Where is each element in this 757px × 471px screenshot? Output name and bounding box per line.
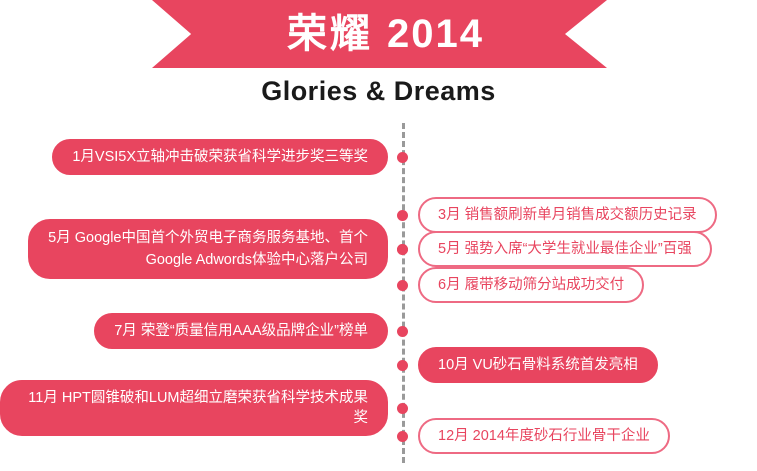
timeline-event-8: 11月 HPT圆锥破和LUM超细立磨荣获省科学技术成果奖 [0,380,388,436]
page-subtitle: Glories & Dreams [0,76,757,107]
timeline-event-5: 6月 履带移动筛分站成功交付 [418,267,644,303]
timeline-event-7: 10月 VU砂石骨料系统首发亮相 [418,347,658,383]
timeline-dot-8 [397,403,408,414]
timeline-dot-7 [397,360,408,371]
header: 荣耀 2014 Glories & Dreams [0,0,757,115]
timeline-dot-4 [397,244,408,255]
timeline-dot-9 [397,431,408,442]
banner-text-group: 荣耀 2014 [287,14,484,54]
banner-year: 2014 [387,14,484,54]
timeline-event-1: 1月VSI5X立轴冲击破荣获省科学进步奖三等奖 [52,139,388,175]
timeline: 1月VSI5X立轴冲击破荣获省科学进步奖三等奖3月 销售额刷新单月销售成交额历史… [0,115,757,471]
timeline-event-6: 7月 荣登“质量信用AAA级品牌企业”榜单 [94,313,388,349]
timeline-dot-1 [397,152,408,163]
timeline-event-2: 3月 销售额刷新单月销售成交额历史记录 [418,197,717,233]
timeline-dot-6 [397,326,408,337]
timeline-event-3: 5月 Google中国首个外贸电子商务服务基地、首个 Google Adword… [28,219,388,279]
banner-inner: 荣耀 2014 [152,0,607,68]
timeline-dot-2 [397,210,408,221]
banner-title-chinese: 荣耀 [287,14,373,54]
timeline-dot-5 [397,280,408,291]
glories-2014-timeline-infographic: { "header": { "banner_title_cn": "荣耀", "… [0,0,757,471]
timeline-event-9: 12月 2014年度砂石行业骨干企业 [418,418,670,454]
timeline-event-4: 5月 强势入席“大学生就业最佳企业”百强 [418,231,712,267]
title-banner: 荣耀 2014 [152,0,607,68]
